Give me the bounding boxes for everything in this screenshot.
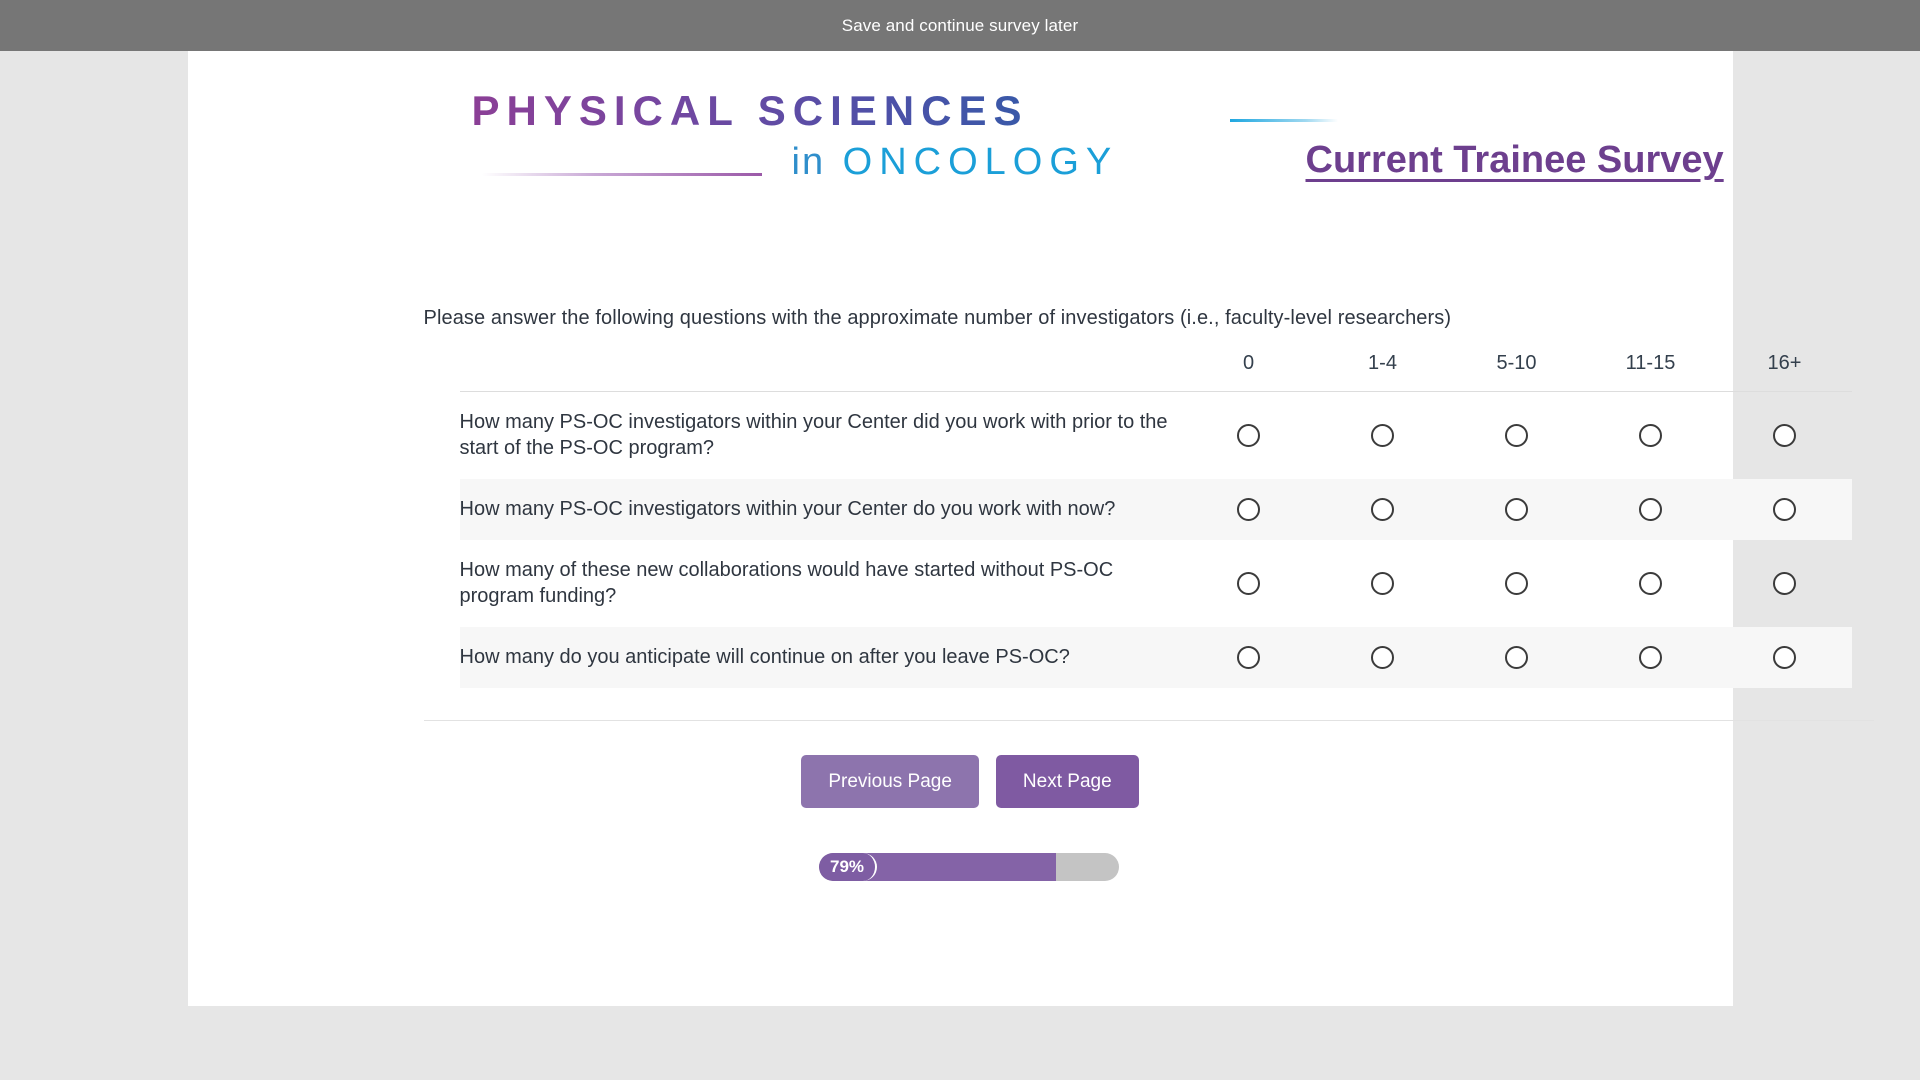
radio-cell-1-2[interactable] xyxy=(1450,479,1584,540)
radio-button-3-0[interactable] xyxy=(1237,646,1260,669)
question-label-2: How many of these new collaborations wou… xyxy=(460,540,1182,627)
radio-button-2-2[interactable] xyxy=(1505,572,1528,595)
radio-cell-3-1[interactable] xyxy=(1316,627,1450,688)
matrix-option-header-3: 11-15 xyxy=(1584,352,1718,392)
radio-button-2-4[interactable] xyxy=(1773,572,1796,595)
radio-cell-3-3[interactable] xyxy=(1584,627,1718,688)
radio-cell-3-4[interactable] xyxy=(1718,627,1852,688)
save-bar: Save and continue survey later xyxy=(0,0,1920,51)
radio-cell-0-0[interactable] xyxy=(1182,392,1316,480)
matrix-header-row: 0 1-4 5-10 11-15 16+ xyxy=(460,352,1852,392)
radio-button-0-3[interactable] xyxy=(1639,424,1662,447)
question-label-0: How many PS-OC investigators within your… xyxy=(460,392,1182,480)
question-matrix: 0 1-4 5-10 11-15 16+ How many PS-OC inve… xyxy=(460,352,1852,688)
radio-cell-2-3[interactable] xyxy=(1584,540,1718,627)
radio-cell-3-2[interactable] xyxy=(1450,627,1584,688)
table-row: How many do you anticipate will continue… xyxy=(460,627,1852,688)
question-label-3: How many do you anticipate will continue… xyxy=(460,627,1182,688)
radio-cell-1-0[interactable] xyxy=(1182,479,1316,540)
radio-button-2-0[interactable] xyxy=(1237,572,1260,595)
logo-purple-rule-icon xyxy=(482,173,762,176)
radio-button-0-2[interactable] xyxy=(1505,424,1528,447)
table-row: How many PS-OC investigators within your… xyxy=(460,479,1852,540)
radio-button-3-4[interactable] xyxy=(1773,646,1796,669)
radio-cell-0-4[interactable] xyxy=(1718,392,1852,480)
radio-button-2-3[interactable] xyxy=(1639,572,1662,595)
survey-header: PHYSICAL SCIENCES in ONCOLOGY Current Tr… xyxy=(188,51,1733,211)
radio-button-1-4[interactable] xyxy=(1773,498,1796,521)
page-title: Current Trainee Survey xyxy=(1306,139,1724,182)
radio-button-3-2[interactable] xyxy=(1505,646,1528,669)
table-row: How many PS-OC investigators within your… xyxy=(460,392,1852,480)
survey-content: Please answer the following questions wi… xyxy=(188,307,1733,881)
matrix-body: How many PS-OC investigators within your… xyxy=(460,392,1852,689)
logo-text-physical-sciences: PHYSICAL SCIENCES xyxy=(472,89,1292,133)
logo-text-oncology: ONCOLOGY xyxy=(843,141,1119,183)
survey-card: PHYSICAL SCIENCES in ONCOLOGY Current Tr… xyxy=(188,51,1733,1006)
radio-cell-2-0[interactable] xyxy=(1182,540,1316,627)
radio-cell-1-3[interactable] xyxy=(1584,479,1718,540)
radio-button-0-0[interactable] xyxy=(1237,424,1260,447)
radio-cell-2-1[interactable] xyxy=(1316,540,1450,627)
psoc-logo: PHYSICAL SCIENCES in ONCOLOGY xyxy=(472,89,1292,183)
radio-cell-3-0[interactable] xyxy=(1182,627,1316,688)
navigation-buttons: Previous Page Next Page xyxy=(188,755,1733,808)
radio-button-3-1[interactable] xyxy=(1371,646,1394,669)
radio-button-0-1[interactable] xyxy=(1371,424,1394,447)
radio-button-1-2[interactable] xyxy=(1505,498,1528,521)
previous-page-button[interactable]: Previous Page xyxy=(801,755,979,808)
progress-wrapper: 79% xyxy=(188,853,1733,881)
question-label-1: How many PS-OC investigators within your… xyxy=(460,479,1182,540)
next-page-button[interactable]: Next Page xyxy=(996,755,1139,808)
radio-cell-1-1[interactable] xyxy=(1316,479,1450,540)
matrix-option-header-0: 0 xyxy=(1182,352,1316,392)
matrix-header: 0 1-4 5-10 11-15 16+ xyxy=(460,352,1852,392)
page-wrapper: PHYSICAL SCIENCES in ONCOLOGY Current Tr… xyxy=(0,51,1920,1006)
section-divider xyxy=(424,720,1874,721)
radio-cell-0-2[interactable] xyxy=(1450,392,1584,480)
instructions-text: Please answer the following questions wi… xyxy=(424,307,1733,330)
radio-cell-2-4[interactable] xyxy=(1718,540,1852,627)
radio-button-1-3[interactable] xyxy=(1639,498,1662,521)
table-row: How many of these new collaborations wou… xyxy=(460,540,1852,627)
radio-cell-2-2[interactable] xyxy=(1450,540,1584,627)
progress-bar: 79% xyxy=(819,853,1119,881)
matrix-question-header xyxy=(460,352,1182,392)
matrix-option-header-2: 5-10 xyxy=(1450,352,1584,392)
radio-button-1-0[interactable] xyxy=(1237,498,1260,521)
radio-cell-0-3[interactable] xyxy=(1584,392,1718,480)
radio-cell-1-4[interactable] xyxy=(1718,479,1852,540)
radio-button-0-4[interactable] xyxy=(1773,424,1796,447)
progress-percent-label: 79% xyxy=(819,853,877,881)
matrix-option-header-1: 1-4 xyxy=(1316,352,1450,392)
radio-button-2-1[interactable] xyxy=(1371,572,1394,595)
logo-text-in-oncology: in ONCOLOGY xyxy=(792,143,1292,183)
logo-text-in: in xyxy=(792,141,826,183)
radio-button-3-3[interactable] xyxy=(1639,646,1662,669)
radio-button-1-1[interactable] xyxy=(1371,498,1394,521)
save-and-continue-link[interactable]: Save and continue survey later xyxy=(842,16,1078,36)
radio-cell-0-1[interactable] xyxy=(1316,392,1450,480)
matrix-option-header-4: 16+ xyxy=(1718,352,1852,392)
logo-cyan-rule-icon xyxy=(1230,119,1338,122)
